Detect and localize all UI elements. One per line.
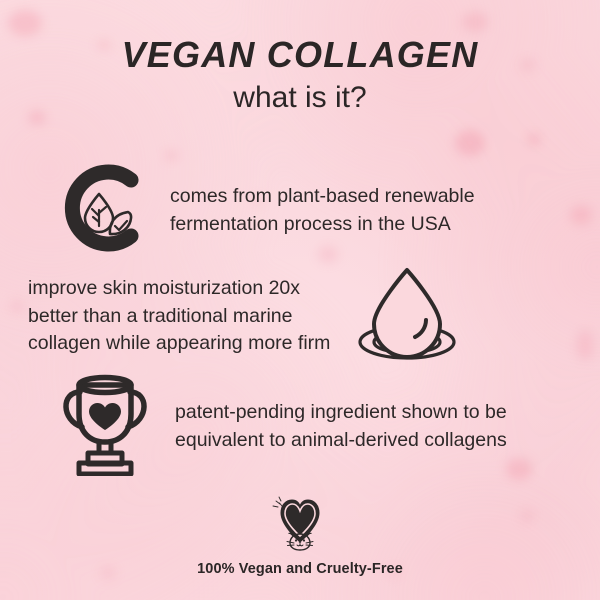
poster-canvas: VEGAN COLLAGEN what is it? comes from pl…	[0, 0, 600, 600]
feature-text-origin: comes from plant-based renewable ferment…	[170, 183, 475, 238]
cruelty-free-label: 100% Vegan and Cruelty-Free	[0, 561, 600, 577]
page-title: VEGAN COLLAGEN	[0, 36, 600, 74]
feature-text-moisturization: improve skin moisturization 20x better t…	[28, 275, 330, 358]
feature-row-moisturization: improve skin moisturization 20x better t…	[28, 262, 462, 371]
feature-text-patent: patent-pending ingredient shown to be eq…	[175, 399, 507, 454]
page-subtitle: what is it?	[0, 80, 600, 116]
cruelty-free-bunny-heart-icon	[270, 496, 330, 557]
trophy-heart-icon	[55, 372, 155, 481]
water-drop-ripple-icon	[352, 262, 462, 371]
cruelty-free-badge: 100% Vegan and Cruelty-Free	[0, 496, 600, 577]
feature-row-patent: patent-pending ingredient shown to be eq…	[55, 372, 507, 481]
collagen-c-leaf-drop-icon	[52, 158, 152, 263]
feature-row-origin: comes from plant-based renewable ferment…	[52, 158, 475, 263]
